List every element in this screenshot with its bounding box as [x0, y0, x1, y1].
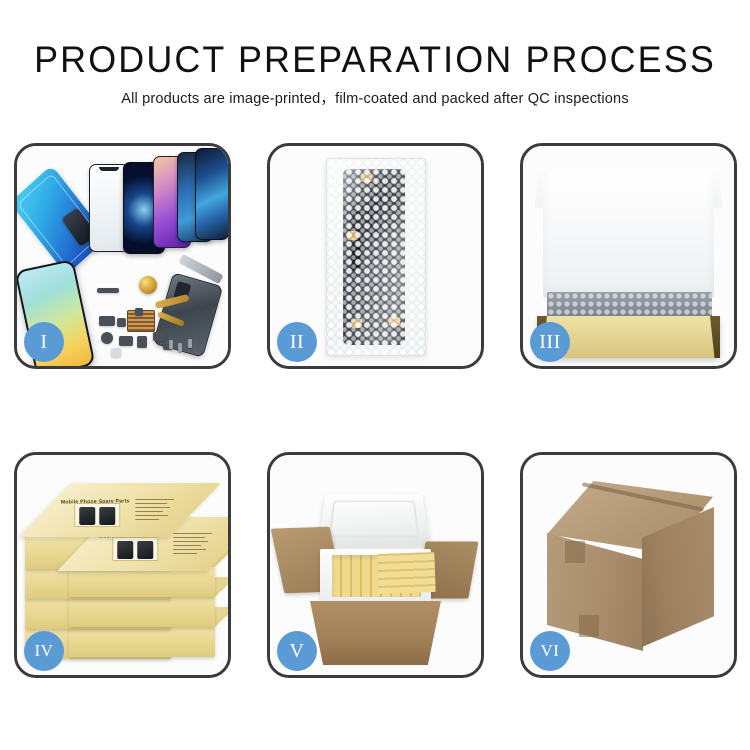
- process-step-grid: I II III: [14, 143, 737, 678]
- process-step-panel-4[interactable]: Mobile Phone Spare Parts Mobile Phone Sp…: [14, 452, 231, 678]
- step-badge-4: IV: [24, 631, 64, 671]
- box-spec-lines-2: [173, 533, 217, 559]
- box-window-2: [112, 537, 158, 561]
- page-header: PRODUCT PREPARATION PROCESS All products…: [0, 0, 750, 110]
- styrofoam-lid-icon: [318, 494, 430, 546]
- carton-tab-upper-icon: [565, 541, 585, 563]
- box-window-1: [74, 503, 120, 527]
- step-badge-5: V: [277, 631, 317, 671]
- process-step-panel-5[interactable]: V: [267, 452, 484, 678]
- carton-tab-lower-icon: [579, 615, 599, 637]
- process-step-panel-2[interactable]: II: [267, 143, 484, 369]
- screws-icon: [167, 338, 199, 354]
- page-subtitle: All products are image-printed，film-coat…: [0, 88, 750, 110]
- plastic-sheen: [327, 159, 425, 355]
- yellow-boxes-row-2-icon: [377, 552, 435, 594]
- step-badge-2: II: [277, 322, 317, 362]
- step-badge-6: VI: [530, 631, 570, 671]
- process-step-panel-3[interactable]: III: [520, 143, 737, 369]
- foam-insert-icon: [543, 170, 714, 298]
- box-spec-lines-1: [135, 499, 179, 525]
- bubble-wrap-bag-icon: [326, 158, 426, 356]
- phone-display-d-icon: [195, 148, 229, 240]
- spare-parts-group: [97, 274, 207, 360]
- gold-coil-icon: [139, 276, 157, 294]
- step-badge-1: I: [24, 322, 64, 362]
- process-step-panel-1[interactable]: I: [14, 143, 231, 369]
- flex-cable-2-icon: [157, 311, 185, 327]
- carton-front-icon: [310, 601, 441, 665]
- process-step-panel-6[interactable]: VI: [520, 452, 737, 678]
- flex-cable-icon: [155, 294, 190, 309]
- page-title: PRODUCT PREPARATION PROCESS: [11, 38, 739, 82]
- step-badge-3: III: [530, 322, 570, 362]
